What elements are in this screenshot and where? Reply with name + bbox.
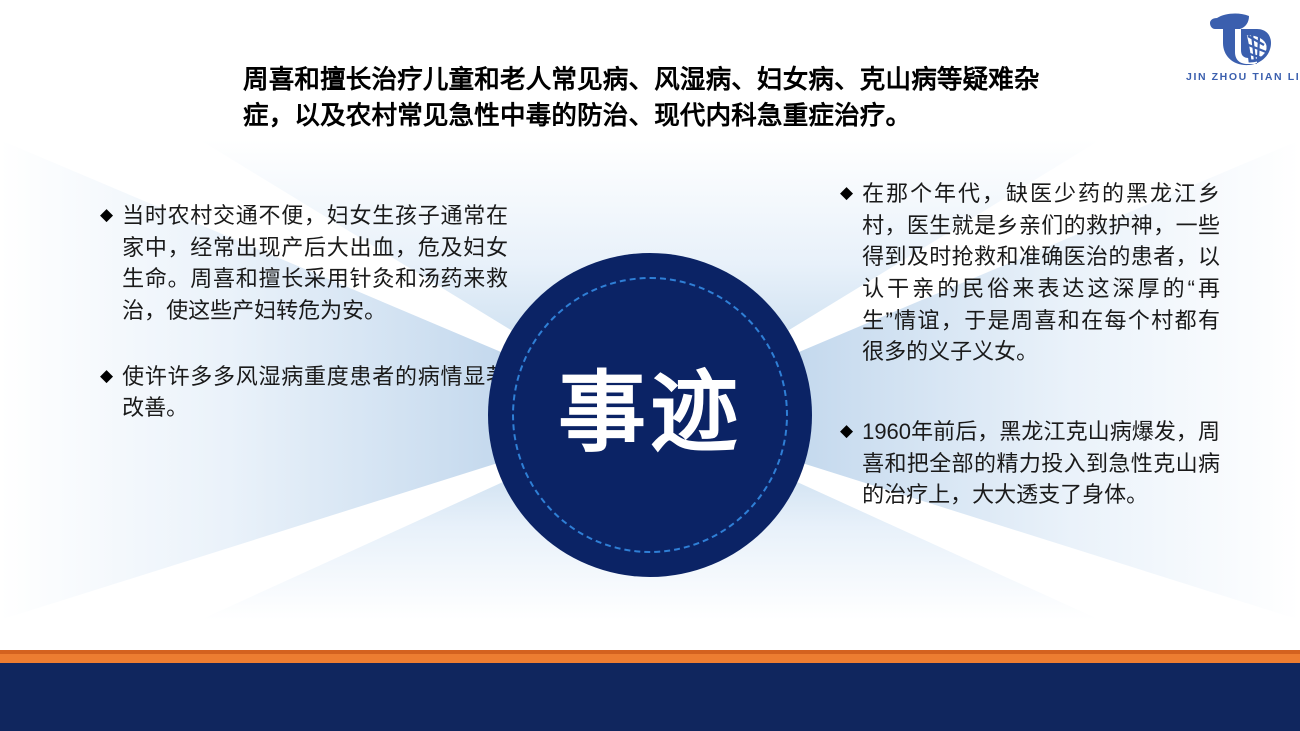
footer-stripe-orange xyxy=(0,654,1300,663)
bullet-text: 使许许多多风湿病重度患者的病情显著改善。 xyxy=(122,361,508,424)
bullet-text: 当时农村交通不便，妇女生孩子通常在家中，经常出现产后大出血，危及妇女生命。周喜和… xyxy=(122,200,508,327)
left-bullet-column: ◆ 当时农村交通不便，妇女生孩子通常在家中，经常出现产后大出血，危及妇女生命。周… xyxy=(100,200,508,424)
company-logo: JIN ZHOU TIAN LI xyxy=(1186,8,1298,96)
footer-bar xyxy=(0,663,1300,731)
diamond-bullet-icon: ◆ xyxy=(100,361,113,391)
bullet-item: ◆ 1960年前后，黑龙江克山病爆发，周喜和把全部的精力投入到急性克山病的治疗上… xyxy=(840,416,1220,511)
bullet-item: ◆ 使许许多多风湿病重度患者的病情显著改善。 xyxy=(100,361,508,424)
bullet-item: ◆ 在那个年代，缺医少药的黑龙江乡村，医生就是乡亲们的救护神，一些得到及时抢救和… xyxy=(840,178,1220,368)
center-circle: 事迹 xyxy=(488,253,812,577)
center-circle-label: 事迹 xyxy=(488,253,812,577)
diamond-bullet-icon: ◆ xyxy=(840,416,853,446)
jinzhou-tianli-logo-mark xyxy=(1205,8,1279,70)
bullet-text: 1960年前后，黑龙江克山病爆发，周喜和把全部的精力投入到急性克山病的治疗上，大… xyxy=(862,416,1220,511)
slide-canvas: JIN ZHOU TIAN LI 周喜和擅长治疗儿童和老人常见病、风湿病、妇女病… xyxy=(0,0,1300,731)
bullet-item: ◆ 当时农村交通不便，妇女生孩子通常在家中，经常出现产后大出血，危及妇女生命。周… xyxy=(100,200,508,327)
diamond-bullet-icon: ◆ xyxy=(100,200,113,230)
slide-title: 周喜和擅长治疗儿童和老人常见病、风湿病、妇女病、克山病等疑难杂症，以及农村常见急… xyxy=(243,62,1053,134)
logo-wordmark: JIN ZHOU TIAN LI xyxy=(1186,71,1298,83)
diamond-bullet-icon: ◆ xyxy=(840,178,853,208)
right-bullet-column: ◆ 在那个年代，缺医少药的黑龙江乡村，医生就是乡亲们的救护神，一些得到及时抢救和… xyxy=(840,178,1220,511)
bullet-text: 在那个年代，缺医少药的黑龙江乡村，医生就是乡亲们的救护神，一些得到及时抢救和准确… xyxy=(862,178,1220,368)
